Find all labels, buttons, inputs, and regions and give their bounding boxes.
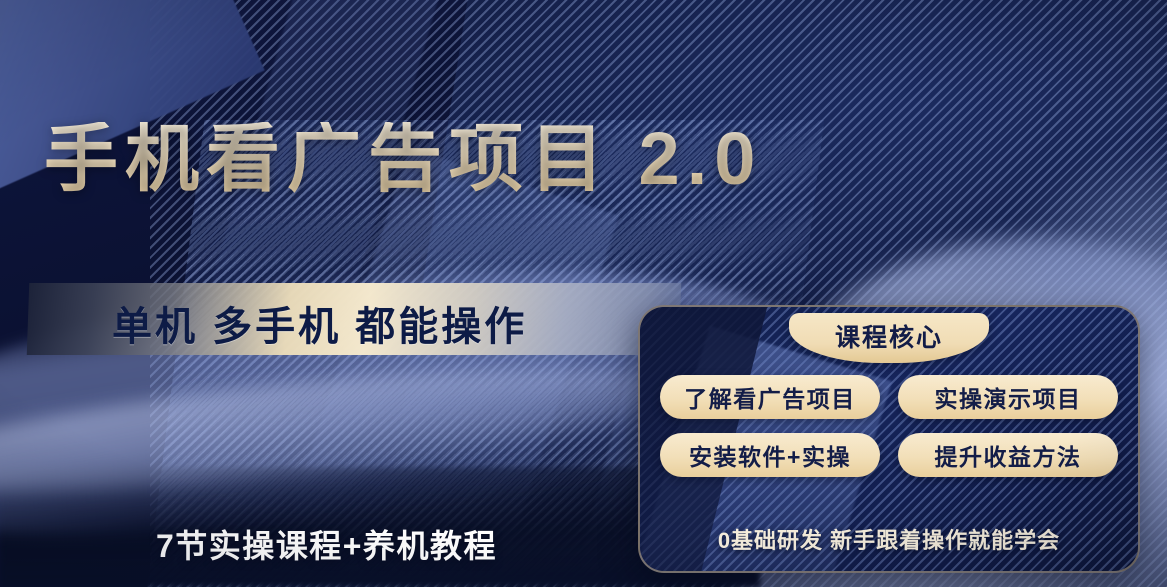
course-feature-pill[interactable]: 了解看广告项目 bbox=[660, 375, 880, 419]
promo-poster: 手机看广告项目 2.0 单机 多手机 都能操作 7节实操课程+养机教程 课程核心… bbox=[0, 0, 1167, 587]
card-footer-text: 0基础研发 新手跟着操作就能学会 bbox=[640, 523, 1138, 555]
page-title: 手机看广告项目 2.0 bbox=[44, 122, 762, 196]
course-feature-pill[interactable]: 提升收益方法 bbox=[898, 433, 1118, 477]
course-count-text: 7节实操课程+养机教程 bbox=[156, 521, 497, 567]
subtitle-banner-text: 单机 多手机 都能操作 bbox=[112, 294, 527, 352]
course-core-card: 课程核心 了解看广告项目 实操演示项目 安装软件+实操 提升收益方法 0基础研发… bbox=[638, 305, 1140, 573]
course-feature-pill[interactable]: 实操演示项目 bbox=[898, 375, 1118, 419]
course-feature-list: 了解看广告项目 实操演示项目 安装软件+实操 提升收益方法 bbox=[660, 375, 1118, 477]
course-feature-pill[interactable]: 安装软件+实操 bbox=[660, 433, 880, 477]
